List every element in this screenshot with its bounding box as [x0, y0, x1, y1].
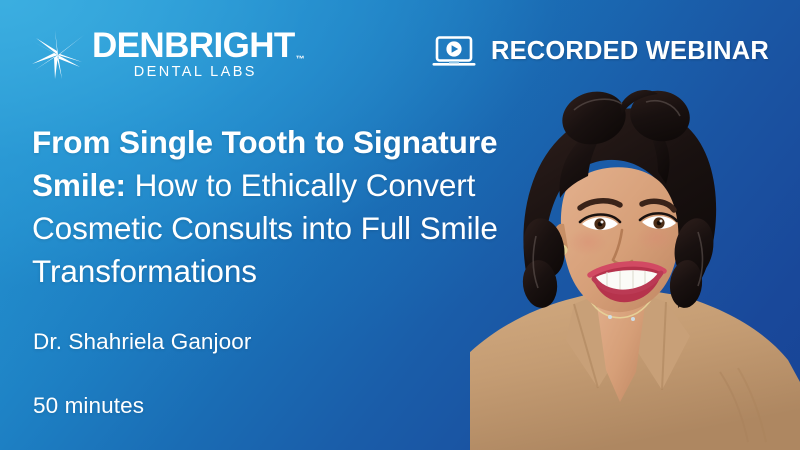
mouth [590, 264, 664, 302]
speaker-portrait [470, 72, 800, 450]
brand-name: DENBRIGHT [92, 28, 295, 64]
necklace [590, 298, 652, 321]
banner-header: DENBRIGHT ™ DENTAL LABS RECORDED WEBINAR [0, 0, 800, 100]
laptop-play-icon [432, 36, 476, 67]
denbright-wordmark: DENBRIGHT ™ DENTAL LABS [92, 27, 295, 81]
webinar-title: From Single Tooth to Signature Smile: Ho… [32, 121, 510, 293]
recorded-webinar-badge: RECORDED WEBINAR [432, 31, 769, 71]
hair-front [518, 85, 718, 310]
denbright-logo[interactable]: DENBRIGHT ™ DENTAL LABS [30, 27, 295, 81]
trademark-symbol: ™ [296, 55, 305, 64]
webinar-promo-banner: DENBRIGHT ™ DENTAL LABS RECORDED WEBINAR… [0, 0, 800, 450]
duration-label: 50 minutes [33, 392, 144, 420]
denbright-star-icon [30, 29, 86, 81]
badge-label: RECORDED WEBINAR [491, 37, 769, 65]
blazer [470, 284, 800, 450]
eyes [580, 213, 677, 230]
speaker-name: Dr. Shahriela Ganjoor [33, 328, 251, 356]
brand-tagline: DENTAL LABS [92, 64, 295, 81]
